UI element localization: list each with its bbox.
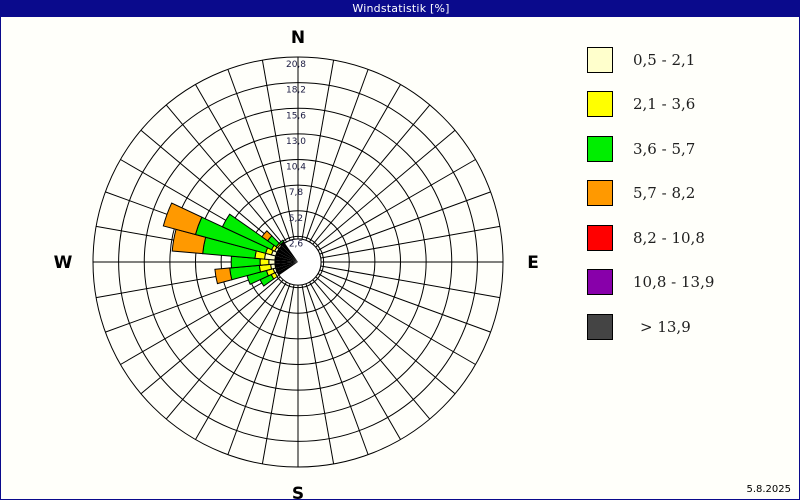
legend: 0,5 - 2,12,1 - 3,63,6 - 5,75,7 - 8,28,2 … <box>587 45 787 357</box>
window-title-bar: Windstatistik [%] <box>1 1 800 17</box>
compass-label-east: E <box>527 253 539 273</box>
radial-tick-label: 13,0 <box>286 137 306 147</box>
grid-spoke <box>313 280 430 419</box>
legend-item-label: 5,7 - 8,2 <box>633 184 695 202</box>
legend-item-label: 0,5 - 2,1 <box>633 51 695 69</box>
grid-spoke <box>196 84 287 242</box>
radial-tick-label: 15,6 <box>286 111 306 121</box>
date-stamp: 5.8.2025 <box>746 484 791 495</box>
radial-tick-labels: 2,65,27,810,413,015,618,220,8 <box>286 60 306 249</box>
grid-spoke <box>313 105 430 244</box>
grid-spoke <box>262 285 294 464</box>
legend-item-label: 8,2 - 10,8 <box>633 229 705 247</box>
legend-color-swatch <box>587 269 613 295</box>
grid-spoke <box>120 274 278 365</box>
compass-label-west: W <box>54 253 73 273</box>
legend-color-swatch <box>587 91 613 117</box>
radial-tick-label: 10,4 <box>286 163 306 173</box>
wind-rose-plot: 2,65,27,810,413,015,618,220,8 NSWE <box>1 18 567 500</box>
legend-item-label: 10,8 - 13,9 <box>633 273 714 291</box>
legend-item-label: > 13,9 <box>640 318 691 336</box>
legend-item: 5,7 - 8,2 <box>587 179 787 208</box>
legend-item: 2,1 - 3,6 <box>587 90 787 119</box>
legend-color-swatch <box>587 136 613 162</box>
radial-tick-label: 5,2 <box>289 214 303 224</box>
legend-item-label: 3,6 - 5,7 <box>633 140 695 158</box>
wind-rose-petals <box>163 203 284 286</box>
grid-spoke <box>316 130 455 247</box>
wind-rose-svg: 2,65,27,810,413,015,618,220,8 NSWE <box>1 18 567 500</box>
window-title: Windstatistik [%] <box>352 2 449 15</box>
grid-spoke <box>310 282 401 440</box>
legend-color-swatch <box>587 180 613 206</box>
legend-item: 0,5 - 2,1 <box>587 45 787 74</box>
legend-item: 8,2 - 10,8 <box>587 223 787 252</box>
petal-segment <box>215 268 232 284</box>
grid-spoke <box>318 160 476 251</box>
legend-item: 10,8 - 13,9 <box>587 268 787 297</box>
grid-spoke <box>302 285 334 464</box>
radial-tick-label: 20,8 <box>286 60 306 70</box>
wind-statistics-window: Windstatistik [%] 2,65,27,810,413,015,61… <box>0 0 800 500</box>
grid-spoke <box>318 274 476 365</box>
compass-label-north: N <box>291 28 305 48</box>
petal-segment <box>163 203 201 234</box>
radial-tick-label: 2,6 <box>289 239 304 249</box>
grid-spoke <box>302 60 334 239</box>
radial-tick-label: 18,2 <box>286 86 306 96</box>
grid-spoke <box>166 280 283 419</box>
legend-item-label: 2,1 - 3,6 <box>633 95 695 113</box>
grid-spoke <box>321 226 500 258</box>
compass-label-south: S <box>292 484 304 500</box>
legend-color-swatch <box>587 225 613 251</box>
legend-color-swatch <box>587 47 613 73</box>
grid-spoke <box>310 84 401 242</box>
legend-item: 3,6 - 5,7 <box>587 134 787 163</box>
grid-spoke <box>316 277 455 394</box>
radial-tick-label: 7,8 <box>289 188 304 198</box>
grid-spoke <box>141 277 280 394</box>
grid-spoke <box>321 266 500 298</box>
grid-spoke <box>196 282 287 440</box>
legend-color-swatch <box>587 314 613 340</box>
legend-item: > 13,9 <box>587 312 787 341</box>
